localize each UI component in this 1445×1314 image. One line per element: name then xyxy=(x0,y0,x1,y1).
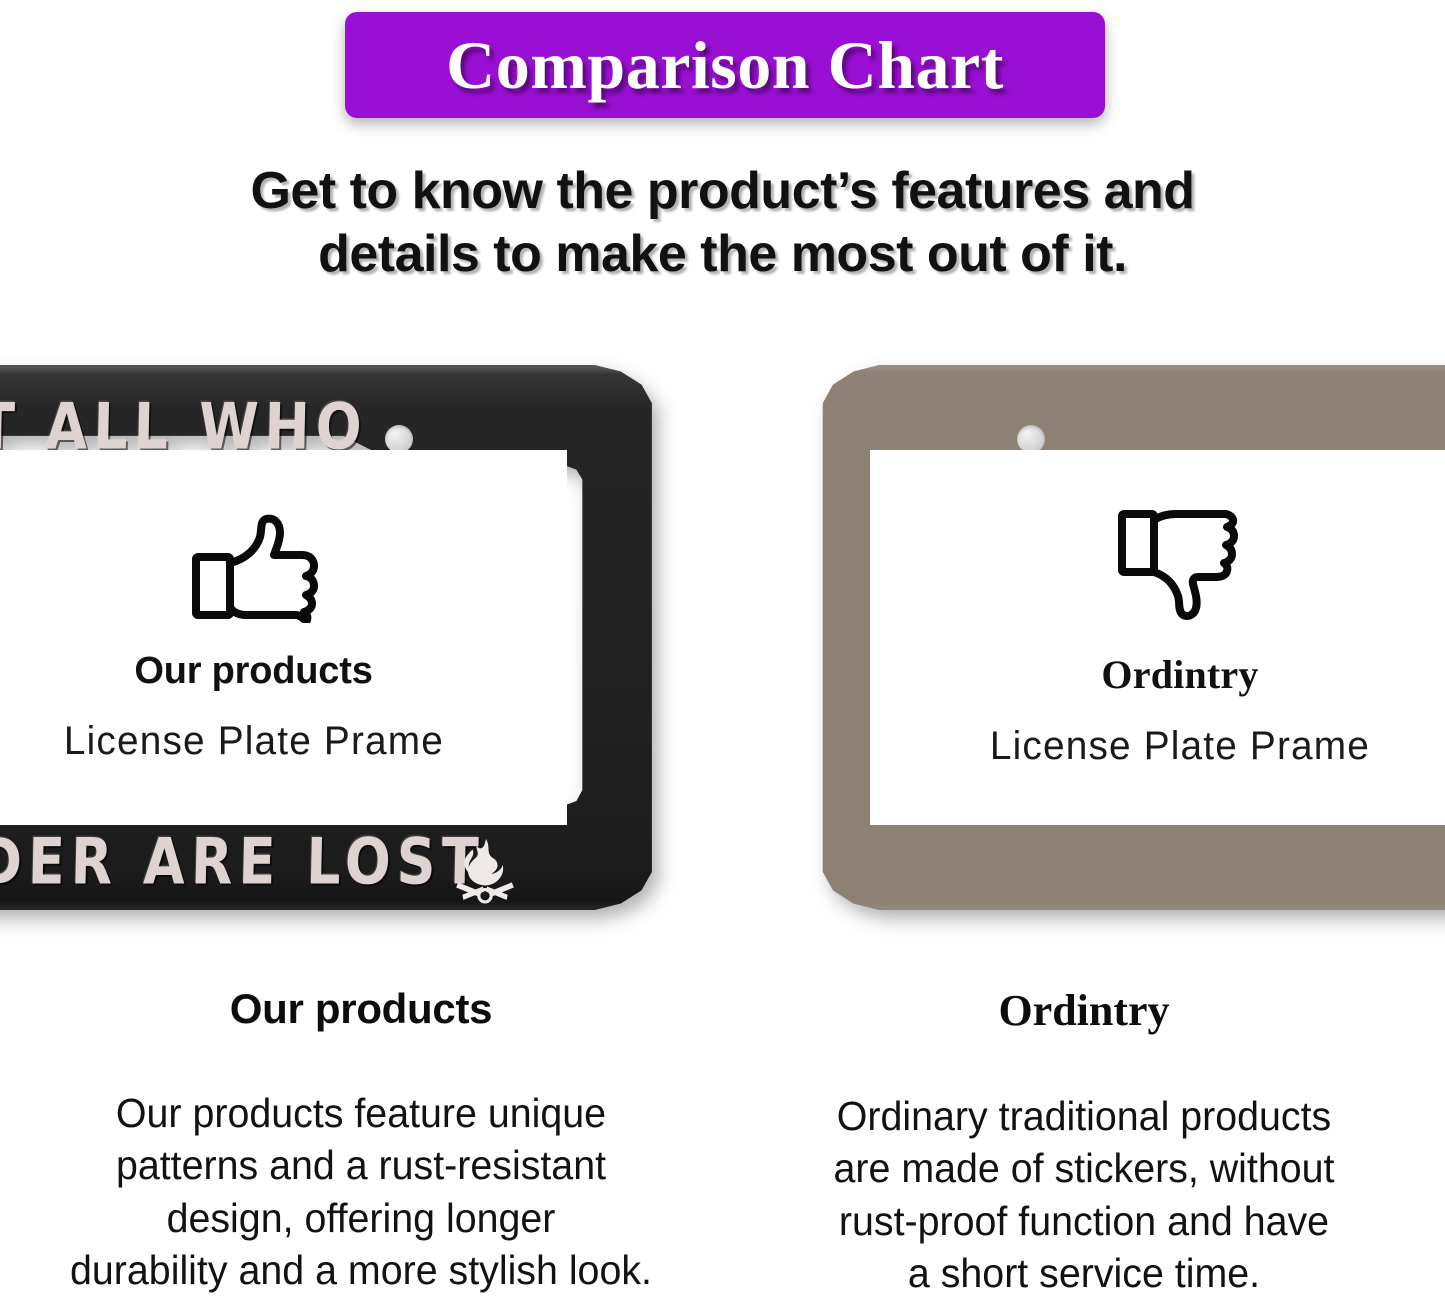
our-product-body-line-3: design, offering longer xyxy=(47,1192,675,1244)
ordinary-product-window-subheading: License Plate Prame xyxy=(990,724,1370,769)
our-product-column-heading: Our products xyxy=(0,985,722,1033)
our-product-window-subheading: License Plate Prame xyxy=(63,719,443,764)
ordinary-product-window-heading: Ordintry xyxy=(1101,651,1258,698)
our-product-column-body: Our products feature unique patterns and… xyxy=(14,1087,707,1297)
comparison-chart-page: Comparison Chart Get to know the product… xyxy=(0,0,1445,1314)
ordinary-product-window: Ordintry License Plate Prame xyxy=(870,450,1445,825)
title-banner: Comparison Chart xyxy=(345,12,1105,118)
page-title: Comparison Chart xyxy=(446,31,1004,99)
our-product-body-line-1: Our products feature unique xyxy=(47,1087,675,1139)
our-product-body-line-4: durability and a more stylish look. xyxy=(47,1244,675,1296)
subtitle-line-1: Get to know the product’s features and xyxy=(0,160,1445,223)
plate-slogan-bottom: NDER ARE LOST xyxy=(0,824,485,898)
ordinary-product-body-line-2: are made of stickers, without xyxy=(770,1142,1398,1194)
subtitle: Get to know the product’s features and d… xyxy=(0,160,1445,287)
campfire-icon xyxy=(452,837,518,905)
ordinary-product-body-line-3: rust-proof function and have xyxy=(770,1195,1398,1247)
ordinary-product-column-heading: Ordintry xyxy=(723,985,1445,1036)
ordinary-product-body-line-1: Ordinary traditional products xyxy=(770,1090,1398,1142)
our-product-window-heading: Our products xyxy=(134,650,372,693)
our-product-window: Our products License Plate Prame xyxy=(0,450,567,825)
subtitle-line-2: details to make the most out of it. xyxy=(0,223,1445,286)
ordinary-product-column-body: Ordinary traditional products are made o… xyxy=(737,1090,1430,1300)
ordinary-product-column: Ordintry Ordinary traditional products a… xyxy=(723,985,1445,1300)
our-product-column: Our products Our products feature unique… xyxy=(0,985,722,1297)
thumbs-down-icon xyxy=(1116,506,1244,629)
comparison-columns: Our products Our products feature unique… xyxy=(0,985,1445,1314)
screw-hole-icon xyxy=(385,425,413,453)
our-product-body-line-2: patterns and a rust-resistant xyxy=(47,1139,675,1191)
product-frames-row: OT ALL WHO NDER ARE LOST xyxy=(0,345,1445,920)
screw-hole-icon xyxy=(1017,425,1045,453)
thumbs-up-icon xyxy=(188,511,320,628)
ordinary-product-body-line-4: a short service time. xyxy=(770,1247,1398,1299)
